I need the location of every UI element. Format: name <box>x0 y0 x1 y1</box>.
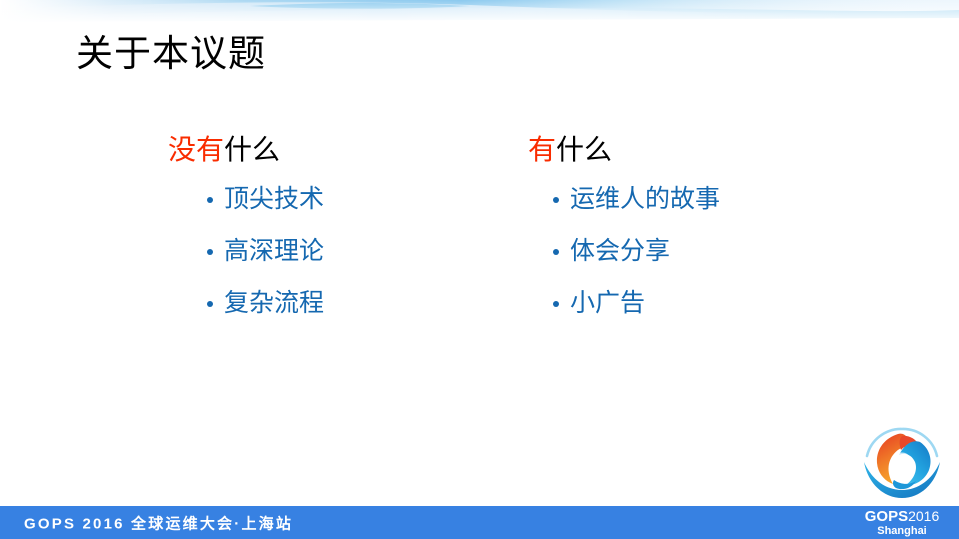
column-heading-has-what: 有什么 <box>528 132 720 168</box>
heading-rest-text: 什么 <box>224 134 280 165</box>
bullet-dot-icon <box>207 197 213 203</box>
gops-swirl-logo-icon <box>854 422 950 506</box>
list-item: 小广告 <box>550 288 720 318</box>
bullet-dot-icon <box>553 249 559 255</box>
list-item: 体会分享 <box>550 236 720 266</box>
footer-bar: GOPS 2016 全球运维大会·上海站 GOPS2016 Shanghai <box>0 506 959 539</box>
content-columns: 没有什么 顶尖技术 高深理论 复杂流程 有什么 <box>0 132 959 372</box>
column-no-what: 没有什么 顶尖技术 高深理论 复杂流程 <box>168 132 324 340</box>
logo-city-text: Shanghai <box>855 525 949 537</box>
column-heading-no-what: 没有什么 <box>168 132 324 168</box>
list-item-label: 复杂流程 <box>224 289 324 317</box>
bullet-dot-icon <box>553 301 559 307</box>
list-item: 运维人的故事 <box>550 184 720 214</box>
list-item: 顶尖技术 <box>204 184 324 214</box>
list-item-label: 顶尖技术 <box>224 185 324 213</box>
list-item-label: 小广告 <box>570 289 645 317</box>
footer-conference-text: GOPS 2016 全球运维大会·上海站 <box>24 512 293 533</box>
bullet-dot-icon <box>207 249 213 255</box>
page-title: 关于本议题 <box>76 31 266 77</box>
logo-caption: GOPS2016 Shanghai <box>855 508 949 537</box>
logo-year-text: 2016 <box>908 508 939 524</box>
column-has-what: 有什么 运维人的故事 体会分享 小广告 <box>528 132 720 340</box>
top-wave-banner <box>0 0 959 26</box>
logo-brand-text: GOPS <box>865 508 908 525</box>
bullet-dot-icon <box>553 197 559 203</box>
list-item-label: 体会分享 <box>570 237 670 265</box>
bullet-list-has-what: 运维人的故事 体会分享 小广告 <box>550 184 720 318</box>
bullet-list-no-what: 顶尖技术 高深理论 复杂流程 <box>204 184 324 318</box>
heading-rest-text: 什么 <box>556 134 612 165</box>
bullet-dot-icon <box>207 301 213 307</box>
heading-accent-text: 有 <box>528 134 556 165</box>
banner-wave-graphic <box>0 0 959 26</box>
list-item: 复杂流程 <box>204 288 324 318</box>
list-item-label: 运维人的故事 <box>570 185 720 213</box>
presentation-slide: 关于本议题 没有什么 顶尖技术 高深理论 复杂流程 <box>0 0 959 539</box>
heading-accent-text: 没有 <box>168 134 224 165</box>
list-item-label: 高深理论 <box>224 237 324 265</box>
list-item: 高深理论 <box>204 236 324 266</box>
gops-swirl-logo <box>854 422 950 506</box>
